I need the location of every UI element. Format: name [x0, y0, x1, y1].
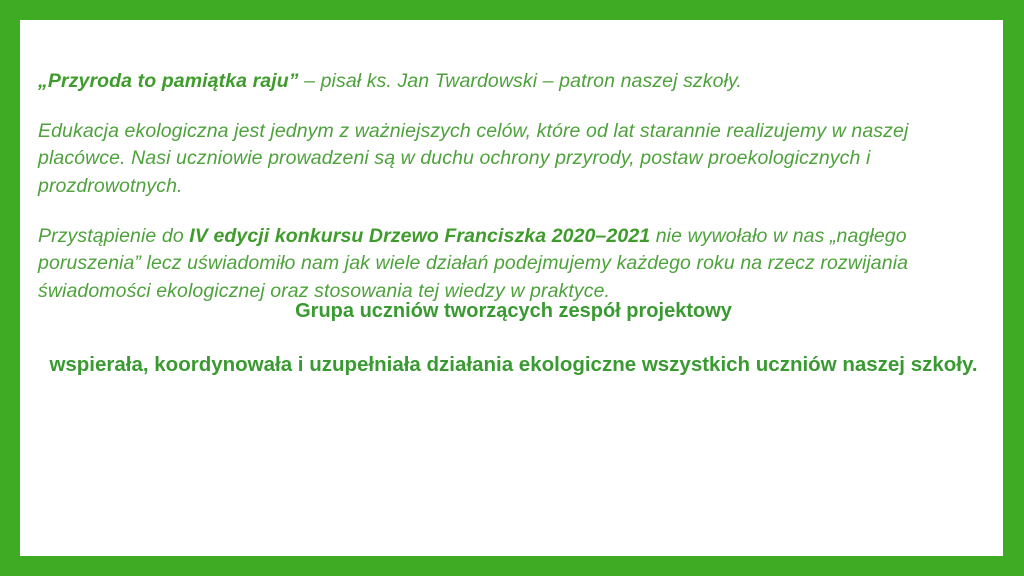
closing-line-team: Grupa uczniów tworzących zespół projekto…: [30, 298, 997, 325]
paragraph-quote: „Przyroda to pamiątka raju” – pisał ks. …: [38, 68, 993, 96]
quote-attribution-run: – pisał ks. Jan Twardowski – patron nasz…: [299, 70, 742, 92]
closing-block: Grupa uczniów tworzących zespół projekto…: [30, 298, 997, 379]
paragraph-competition: Przystąpienie do IV edycji konkursu Drze…: [38, 223, 993, 306]
competition-lead-run: Przystąpienie do: [38, 225, 189, 247]
slide-canvas: „Przyroda to pamiątka raju” – pisał ks. …: [20, 20, 1003, 556]
competition-title-run: IV edycji konkursu Drzewo Franciszka 202…: [189, 225, 650, 247]
slide-body-text: „Przyroda to pamiątka raju” – pisał ks. …: [38, 68, 993, 306]
paragraph-ecological-education: Edukacja ekologiczna jest jednym z ważni…: [38, 118, 993, 201]
quote-bold-run: „Przyroda to pamiątka raju”: [38, 70, 299, 92]
closing-line-support: wspierała, koordynowała i uzupełniała dz…: [30, 351, 997, 379]
slide-frame: „Przyroda to pamiątka raju” – pisał ks. …: [0, 0, 1024, 576]
